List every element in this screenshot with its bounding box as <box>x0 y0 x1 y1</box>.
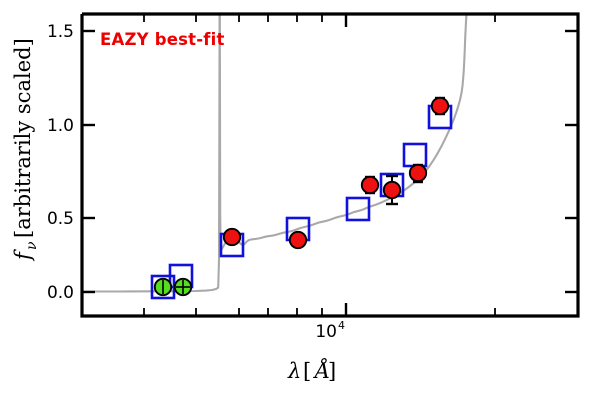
observed-point-red <box>290 232 306 248</box>
y-ticklabel: 0.5 <box>47 209 74 229</box>
x-axis-ticklabels: 10 4 <box>315 319 345 342</box>
x-axis-label: λ [ Å ] <box>287 358 336 383</box>
y-axis-ticklabels: 1.5 1.0 0.5 0.0 <box>47 22 74 303</box>
y-ticklabel: 1.0 <box>47 116 74 136</box>
observed-point-red <box>432 98 448 114</box>
observed-point-red <box>362 177 378 193</box>
y-ticklabel: 1.5 <box>47 22 74 42</box>
observed-point-red <box>410 165 426 181</box>
x-axis-label-bracket-close: ] <box>328 359 336 383</box>
observed-point-red <box>224 229 240 245</box>
figure-panel: EAZY best-fit <box>0 0 600 400</box>
x-axis-label-bracket-open: [ <box>303 359 311 383</box>
model-spectrum-curve <box>85 14 466 292</box>
x-ticklabel-mantissa: 10 <box>315 322 337 342</box>
x-axis-label-lambda: λ <box>287 359 301 383</box>
eazy-bestfit-annotation: EAZY best-fit <box>100 30 225 49</box>
y-axis-ticks <box>82 31 578 292</box>
x-axis-ticks <box>144 14 495 316</box>
model-square-point <box>404 144 426 166</box>
observed-red-points <box>224 98 448 248</box>
axes-frame <box>82 14 578 316</box>
model-photometry-squares <box>152 106 451 298</box>
y-axis-label-rest: [arbitrarily scaled] <box>11 38 35 238</box>
y-axis-label: f ν [arbitrarily scaled] <box>11 38 40 262</box>
chart-svg: EAZY best-fit <box>0 0 600 400</box>
x-ticklabel-exponent: 4 <box>338 319 345 332</box>
observed-point-red <box>384 182 400 198</box>
y-axis-label-nu: ν <box>24 241 40 250</box>
y-ticklabel: 0.0 <box>47 283 74 303</box>
